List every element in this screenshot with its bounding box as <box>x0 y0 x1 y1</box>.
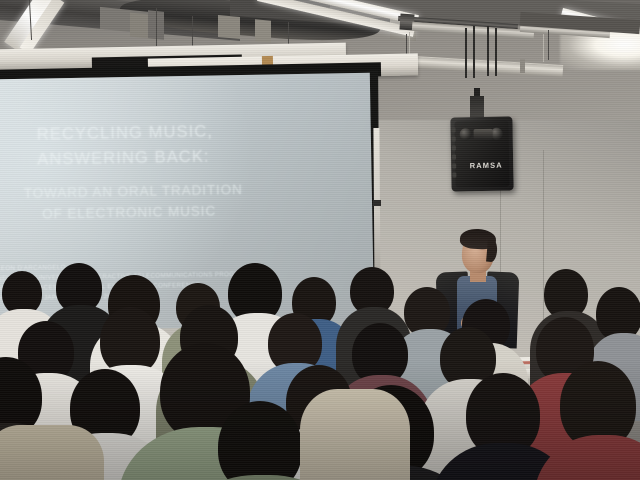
audience-shoulders <box>0 425 104 480</box>
speaker-front-baffle: RAMSA <box>454 121 509 188</box>
speaker-brand-label: RAMSA <box>464 161 508 171</box>
speaker-yoke-mount <box>470 96 484 118</box>
light-strip-bracket <box>373 200 381 206</box>
conference-photo: RAMSA RECYCLING MUSIC, ANSWERING BACK: T… <box>0 0 640 480</box>
speaker-horn <box>474 129 493 140</box>
speaker-driver-left <box>460 128 472 140</box>
audience-shoulders <box>300 389 410 480</box>
ramsa-speaker-cabinet: RAMSA <box>450 116 513 191</box>
audience <box>0 265 640 480</box>
